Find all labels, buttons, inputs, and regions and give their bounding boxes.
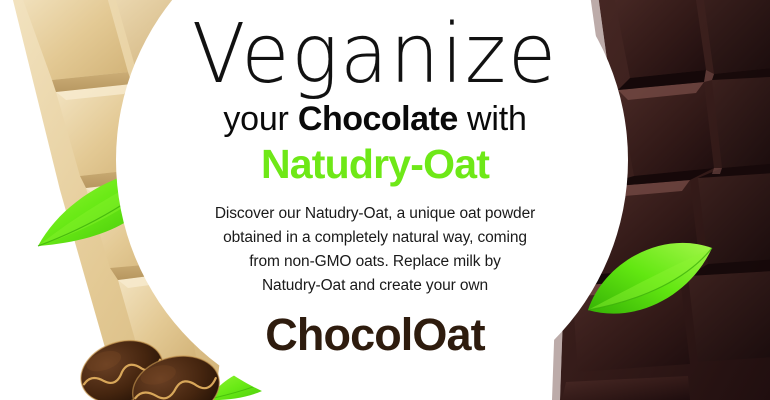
poster-content: Veganize your Chocolate with Natudry-Oat… <box>135 0 615 400</box>
body-line-3: from non-GMO oats. Replace milk by <box>175 250 575 274</box>
body-line-1: Discover our Natudry-Oat, a unique oat p… <box>175 202 575 226</box>
body-line-4: Natudry-Oat and create your own <box>175 274 575 298</box>
subtitle-emphasis: Chocolate <box>298 100 458 138</box>
body-copy: Discover our Natudry-Oat, a unique oat p… <box>175 188 575 298</box>
body-line-2: obtained in a completely natural way, co… <box>175 226 575 250</box>
brand-name: Natudry-Oat <box>135 139 615 188</box>
poster-canvas: Veganize your Chocolate with Natudry-Oat… <box>0 0 770 400</box>
product-name: ChocolOat <box>135 298 615 360</box>
subtitle-suffix: with <box>458 100 527 138</box>
page-title: Veganize <box>135 0 615 99</box>
subtitle-prefix: your <box>223 100 298 138</box>
